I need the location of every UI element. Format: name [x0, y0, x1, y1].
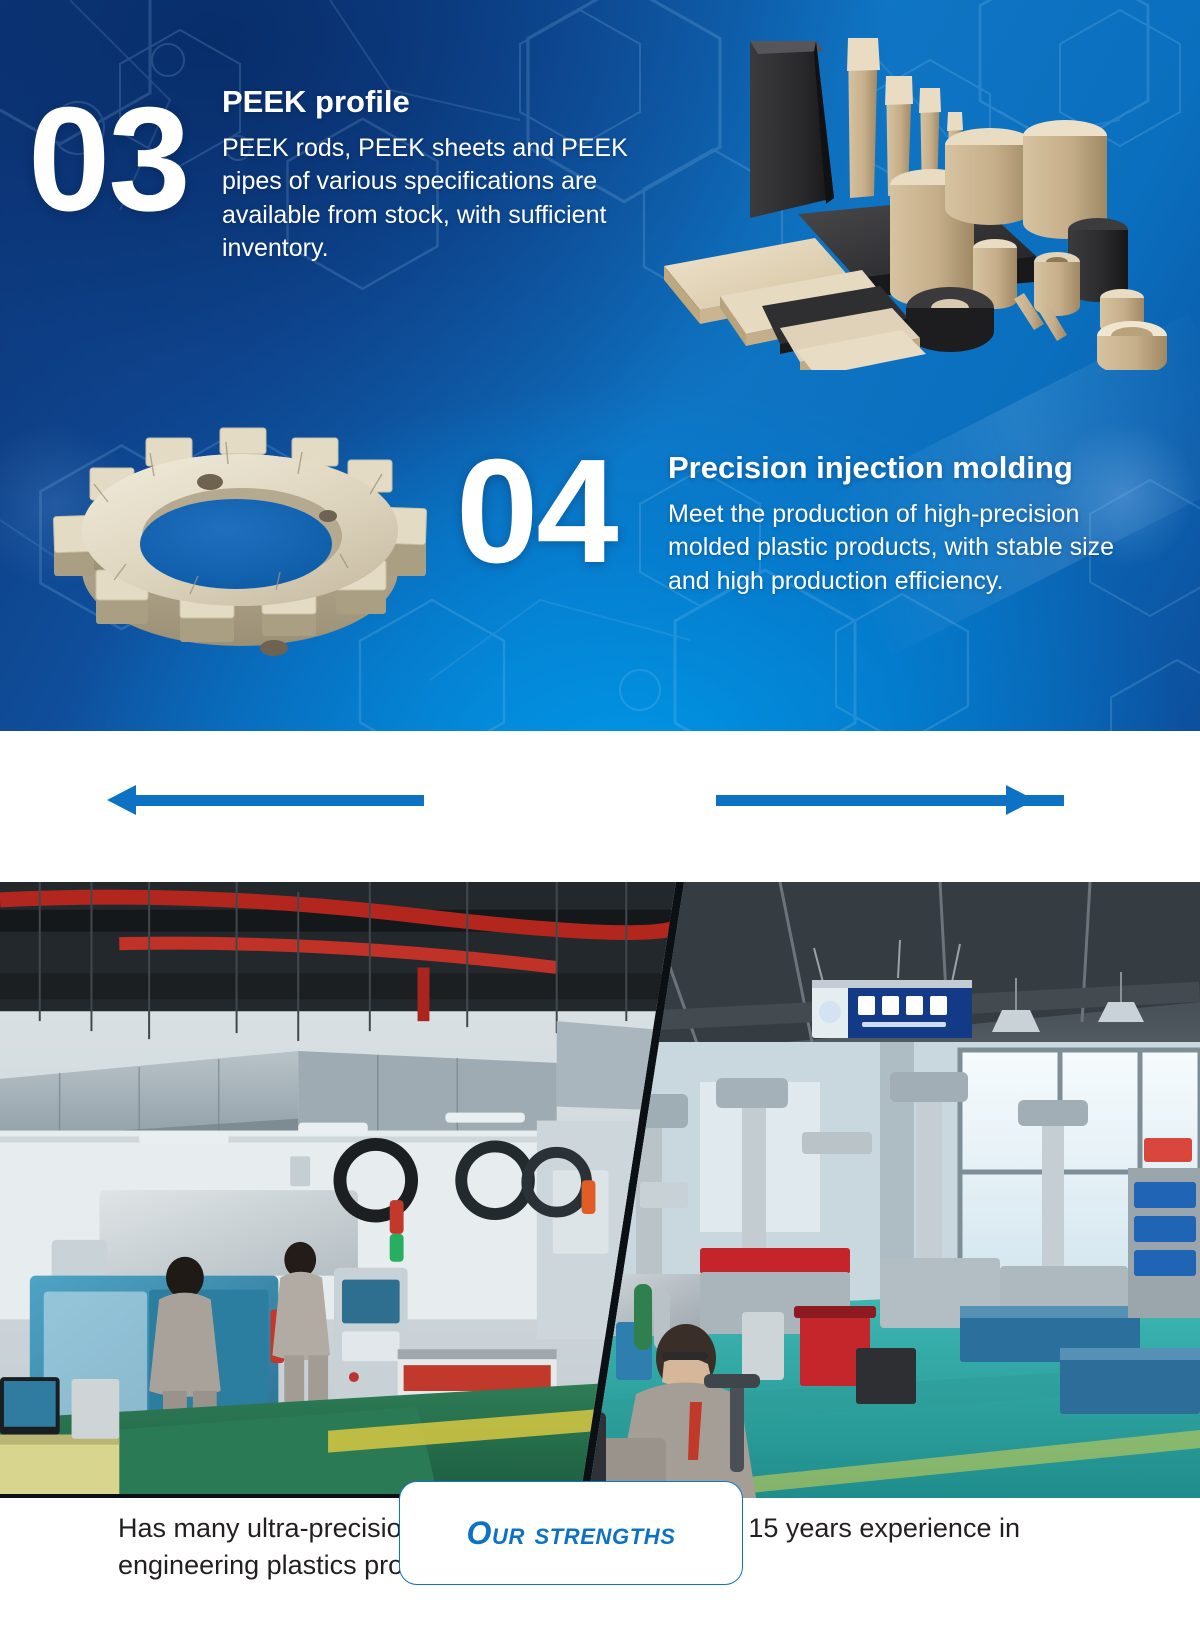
left-arrow-icon [107, 785, 136, 815]
double-arrow-divider [0, 731, 1200, 882]
peek-gear-ring-photo [30, 398, 450, 682]
peek-profile-products-photo [620, 8, 1200, 370]
block-body-04: Meet the production of high-precision mo… [668, 498, 1138, 599]
block-number-04: 04 [456, 438, 617, 586]
our-strengths-badge: Our strengths [399, 1481, 743, 1585]
hero-block-04-text: Precision injection molding Meet the pro… [668, 450, 1138, 598]
block-number-03: 03 [28, 86, 189, 234]
strengths-banner: Our strengths [0, 731, 1200, 882]
workshop-photo-pair [0, 882, 1200, 1498]
promo-page: 03 PEEK profile PEEK rods, PEEK sheets a… [0, 0, 1200, 1633]
hero-block-04: 04 [456, 438, 617, 586]
hero-blue-panel: 03 PEEK profile PEEK rods, PEEK sheets a… [0, 0, 1200, 731]
photo-cnc-workshop [0, 882, 676, 1498]
our-strengths-label: Our strengths [466, 1515, 675, 1552]
right-arrow-icon [1006, 785, 1035, 815]
block-title-04: Precision injection molding [668, 450, 1138, 486]
hero-block-03-text: PEEK profile PEEK rods, PEEK sheets and … [222, 84, 662, 266]
block-body-03: PEEK rods, PEEK sheets and PEEK pipes of… [222, 132, 662, 266]
hero-block-03: 03 [28, 86, 189, 234]
block-title-03: PEEK profile [222, 84, 662, 120]
